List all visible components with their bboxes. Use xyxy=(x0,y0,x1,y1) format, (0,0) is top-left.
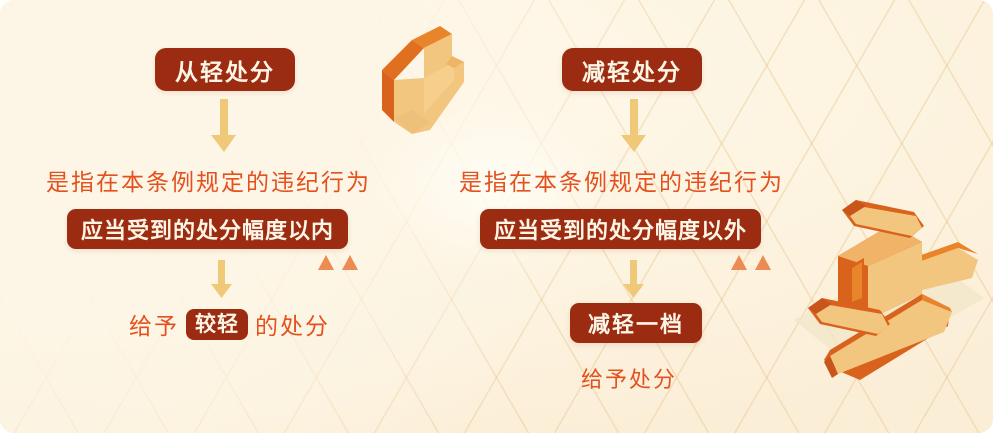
triangle-up-icon-left-a xyxy=(318,255,334,270)
column-congqing-title-text: 从轻处分 xyxy=(175,53,275,87)
column-congqing-result-row: 给予 较轻 的处分 xyxy=(129,307,330,341)
column-jianqing-title-text: 减轻处分 xyxy=(582,53,682,87)
column-congqing-title-badge: 从轻处分 xyxy=(155,48,295,91)
connector-arrow-jianqing-bottom xyxy=(619,260,649,300)
triangle-up-icon-right-a xyxy=(731,255,747,270)
column-jianqing-definition: 是指在本条例规定的违纪行为 xyxy=(459,163,784,197)
column-congqing-scope-badge: 应当受到的处分幅度以内 xyxy=(67,209,348,249)
column-jianqing-scope-text: 应当受到的处分幅度以外 xyxy=(494,213,747,245)
connector-arrow-congqing-bottom xyxy=(207,260,237,300)
column-congqing-definition: 是指在本条例规定的违纪行为 xyxy=(46,163,371,197)
column-jianqing-title-badge: 减轻处分 xyxy=(562,48,702,91)
column-jianqing-result-badge: 减轻一档 xyxy=(570,303,702,343)
column-jianqing-result-caption: 给予处分 xyxy=(581,362,677,394)
infographic-canvas: 从轻处分 是指在本条例规定的违纪行为 应当受到的处分幅度以内 给予 较轻 的处分… xyxy=(0,0,993,433)
connector-arrow-jianqing-top xyxy=(617,99,651,155)
column-congqing-scope-text: 应当受到的处分幅度以内 xyxy=(81,213,334,245)
gavel-icon xyxy=(772,182,990,394)
down-arrow-3d-icon xyxy=(368,18,472,142)
column-congqing-result-suffix: 的处分 xyxy=(255,307,330,341)
triangle-up-icon-right-b xyxy=(755,255,771,270)
column-jianqing-result-text: 减轻一档 xyxy=(588,307,684,339)
column-jianqing-scope-badge: 应当受到的处分幅度以外 xyxy=(480,209,761,249)
triangle-up-icon-left-b xyxy=(342,255,358,270)
connector-arrow-congqing-top xyxy=(207,99,241,155)
column-congqing-result-prefix: 给予 xyxy=(129,307,179,341)
column-congqing-result-chip: 较轻 xyxy=(186,309,248,340)
